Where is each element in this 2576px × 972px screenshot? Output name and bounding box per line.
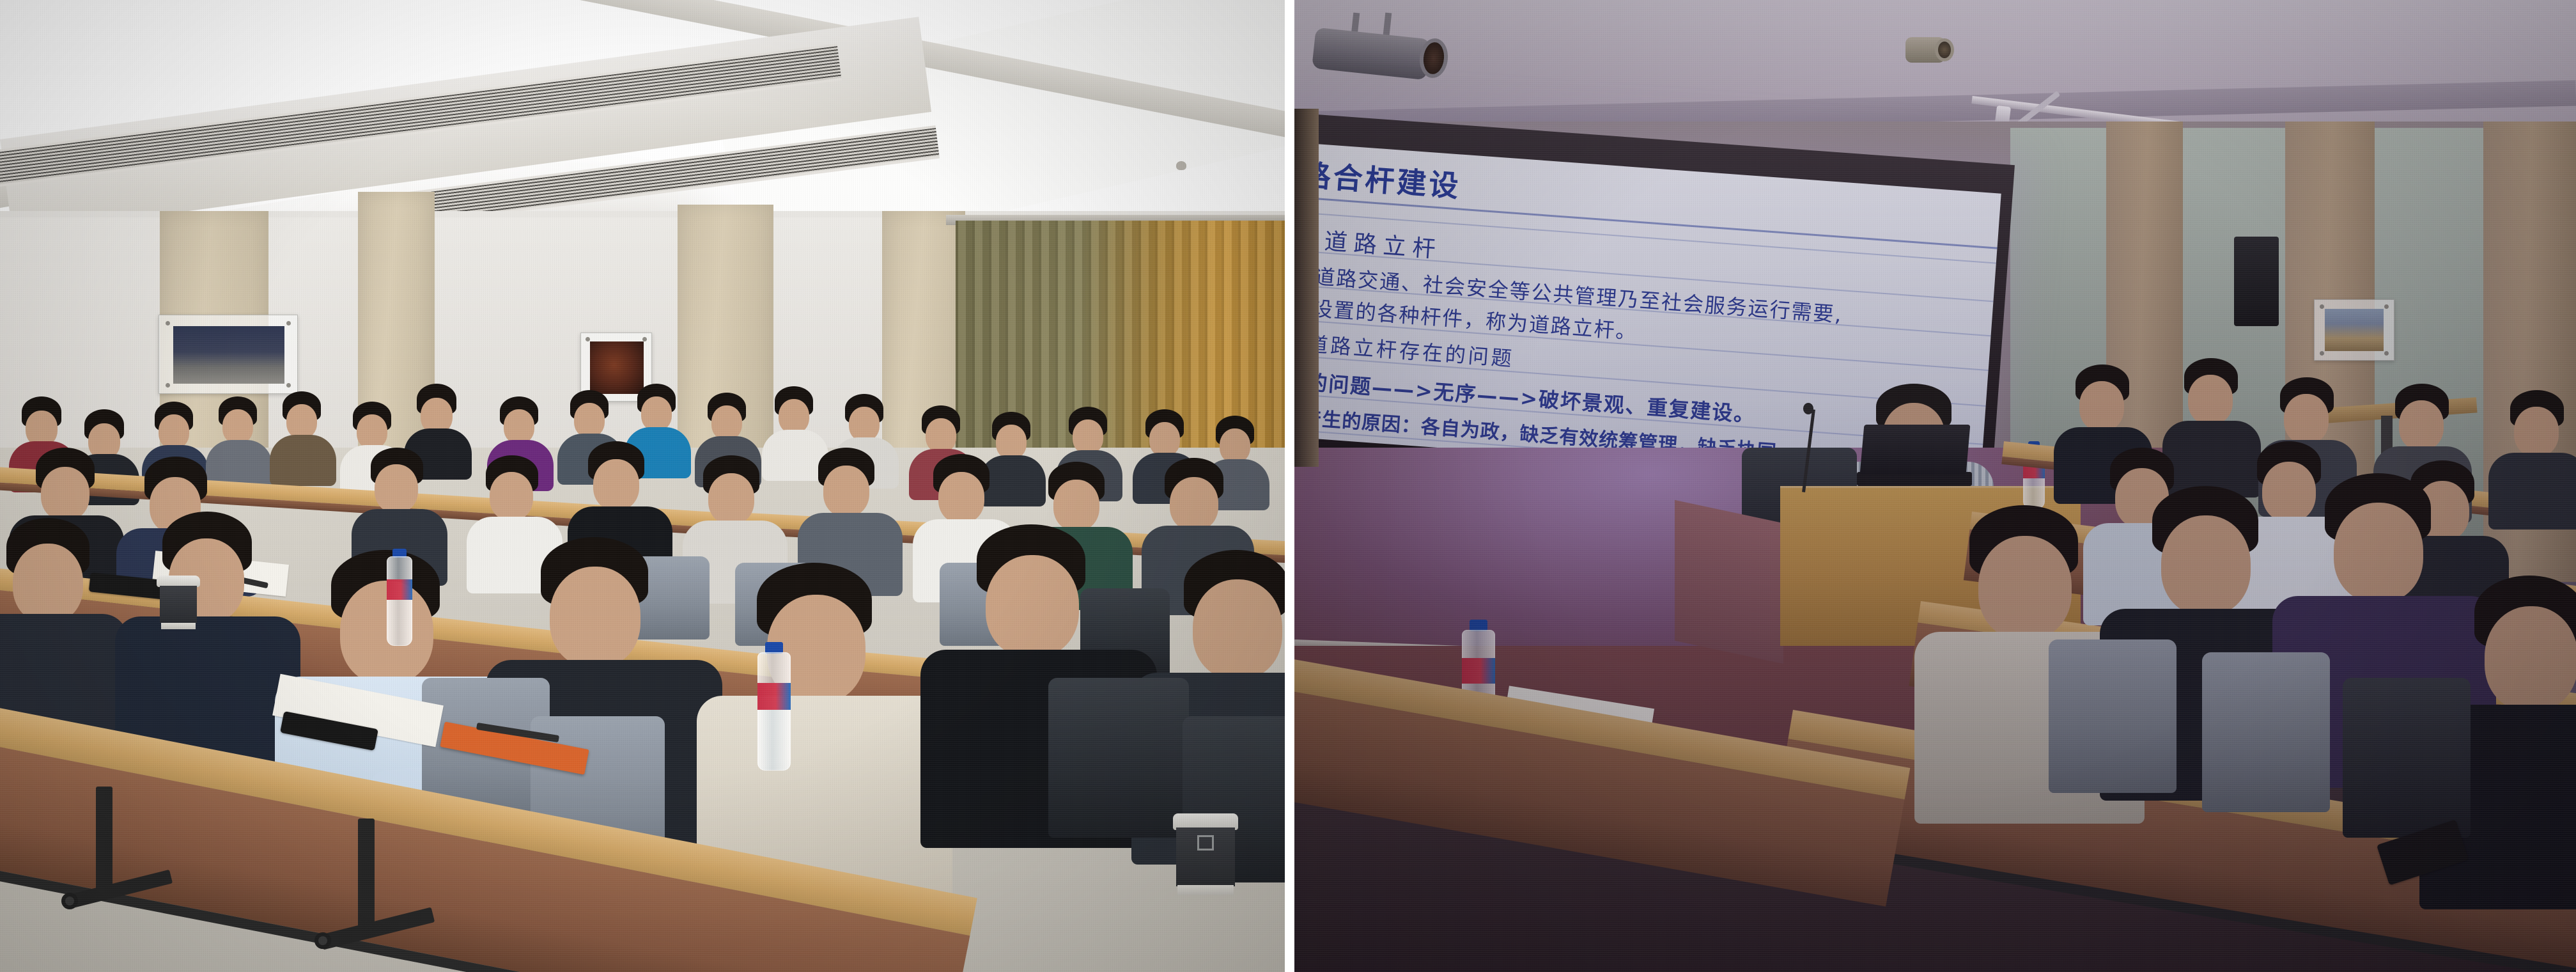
par-can-spotlight-2-icon <box>1902 26 1959 70</box>
photo-divider <box>1285 0 1294 972</box>
framed-landscape-label: framed landscape print on right wall <box>2315 300 2315 301</box>
right-photograph: motorised scissor lift framed landscape … <box>1294 0 2576 972</box>
framed-photo-dark: dark blue-grey landscape photo in acryli… <box>159 315 298 394</box>
water-bottle <box>757 652 791 771</box>
desk-leg <box>358 819 375 934</box>
desk-caster <box>314 932 331 949</box>
sprinkler-head-2 <box>1176 161 1186 170</box>
chair <box>2049 639 2176 793</box>
coffee-cup <box>160 576 197 629</box>
chair <box>1048 678 1189 838</box>
slide-title: 路合杆建设 <box>1300 152 1463 206</box>
attendee-front <box>716 563 927 857</box>
photo-composite: dark blue-grey landscape photo in acryli… <box>0 0 2576 972</box>
attendee <box>2496 390 2576 512</box>
chair <box>2202 652 2330 812</box>
framed-landscape: framed landscape print on right wall <box>2314 299 2394 361</box>
chair <box>2343 678 2471 838</box>
framed-photo-dark-label: dark blue-grey landscape photo in acryli… <box>159 315 160 316</box>
wall-speaker <box>2234 237 2279 326</box>
wall-mullion <box>1294 109 1319 467</box>
presenter-label: presenter in checked short-sleeve shirt … <box>1851 384 1851 384</box>
attendee-front <box>0 518 121 710</box>
desk-leg <box>96 787 113 895</box>
framed-photo-warm-label: small reddish-brown artwork in acrylic f… <box>581 333 582 334</box>
desk-caster <box>61 893 78 909</box>
coffee-cup <box>1176 813 1235 895</box>
attendee <box>275 391 331 474</box>
attendee <box>805 448 895 576</box>
left-photograph: dark blue-grey landscape photo in acryli… <box>0 0 1285 972</box>
water-bottle <box>387 556 412 646</box>
par-can-spotlight-icon <box>1307 13 1461 90</box>
